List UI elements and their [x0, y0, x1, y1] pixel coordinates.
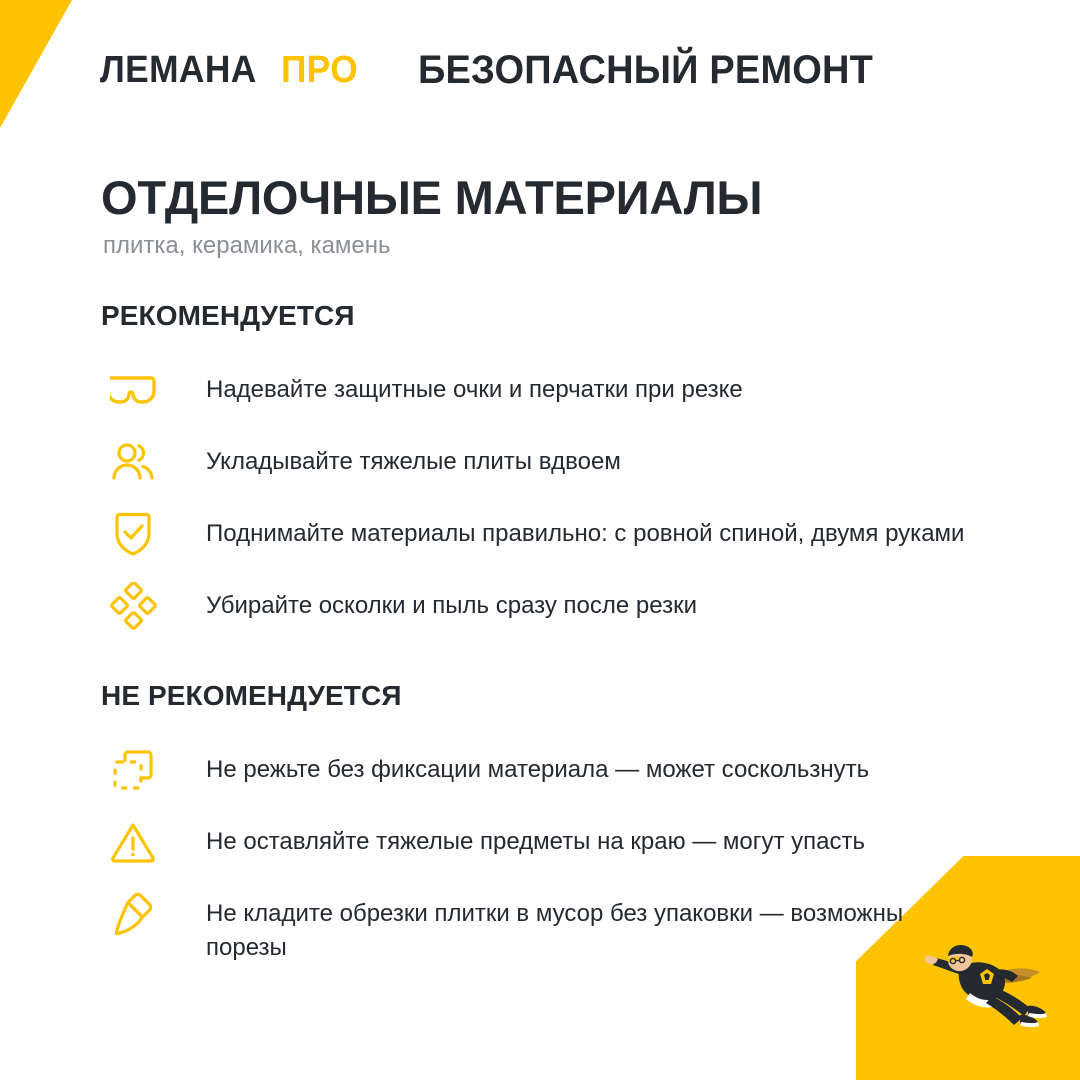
- yellow-corner-triangle-top-left: [0, 0, 72, 128]
- page-subtitle: плитка, керамика, камень: [103, 232, 391, 260]
- shield-check-icon: [101, 508, 165, 560]
- list-item: Не кладите обрезки плитки в мусор без уп…: [101, 890, 981, 965]
- list-item: Не режьте без фиксации материала — может…: [101, 746, 981, 796]
- header: ЛЕМАНА ПРО БЕЗОПАСНЫЙ РЕМОНТ: [100, 42, 1020, 98]
- section-recommended: РЕКОМЕНДУЕТСЯ Надевайте защитные очки и …: [101, 300, 981, 654]
- section-not-recommended: НЕ РЕКОМЕНДУЕТСЯ Не режьте без фиксации …: [101, 680, 981, 987]
- list-item-text: Надевайте защитные очки и перчатки при р…: [165, 366, 966, 407]
- list-item-text: Поднимайте материалы правильно: с ровной…: [165, 510, 966, 551]
- section-heading-recommended: РЕКОМЕНДУЕТСЯ: [101, 300, 981, 332]
- page-title: ОТДЕЛОЧНЫЕ МАТЕРИАЛЫ: [101, 170, 762, 225]
- list-item: Укладывайте тяжелые плиты вдвоем: [101, 438, 981, 488]
- list-item: Убирайте осколки и пыль сразу после резк…: [101, 582, 981, 632]
- two-people-icon: [101, 436, 165, 488]
- list-item-text: Укладывайте тяжелые плиты вдвоем: [165, 438, 966, 479]
- section-heading-not-recommended: НЕ РЕКОМЕНДУЕТСЯ: [101, 680, 981, 712]
- list-item: Надевайте защитные очки и перчатки при р…: [101, 366, 981, 416]
- list-item-text: Убирайте осколки и пыль сразу после резк…: [165, 582, 966, 623]
- warning-triangle-icon: [101, 816, 165, 868]
- safety-goggles-icon: [101, 364, 165, 416]
- logo-text-lemana: ЛЕМАНА: [100, 49, 257, 92]
- list-item-text: Не оставляйте тяжелые предметы на краю —…: [165, 818, 966, 859]
- brand-logo: ЛЕМАНА ПРО: [100, 49, 364, 92]
- header-tagline: БЕЗОПАСНЫЙ РЕМОНТ: [418, 48, 873, 93]
- logo-text-pro: ПРО: [281, 49, 358, 92]
- flying-superhero-mascot: [908, 922, 1058, 1042]
- poster-canvas: ЛЕМАНА ПРО БЕЗОПАСНЫЙ РЕМОНТ ОТДЕЛОЧНЫЕ …: [0, 0, 1080, 1080]
- list-item-text: Не режьте без фиксации материала — может…: [165, 746, 966, 787]
- diamond-shards-icon: [101, 580, 165, 632]
- knife-blade-icon: [101, 888, 165, 940]
- list-item-text: Не кладите обрезки плитки в мусор без уп…: [165, 890, 966, 965]
- unfixed-square-icon: [101, 744, 165, 796]
- list-item: Не оставляйте тяжелые предметы на краю —…: [101, 818, 981, 868]
- list-item: Поднимайте материалы правильно: с ровной…: [101, 510, 981, 560]
